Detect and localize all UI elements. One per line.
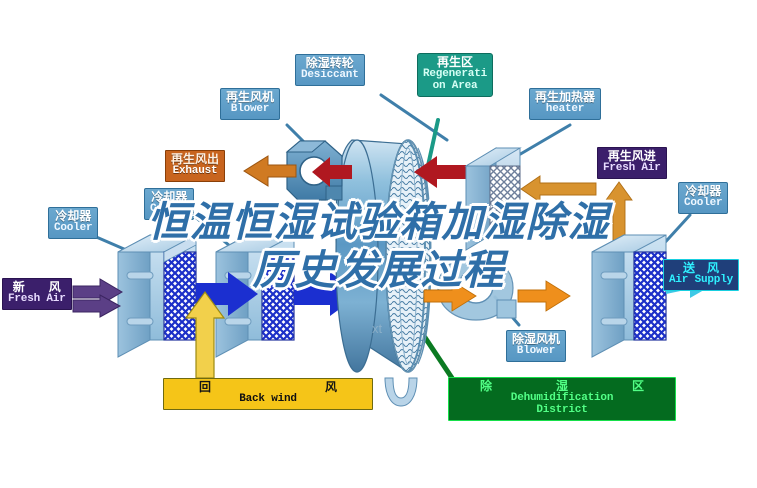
label-regen-blower-en: Blower xyxy=(226,104,274,116)
label-back-wind-en: Back wind xyxy=(169,394,367,406)
label-desiccant-en: Desiccant xyxy=(301,70,359,82)
label-fresh-air-regen: 再生风进 Fresh Air xyxy=(597,147,667,179)
label-cooler-mid: 冷却器 Cooler xyxy=(144,188,194,220)
label-fresh-air-regen-en: Fresh Air xyxy=(603,163,661,175)
cooler-unit-right xyxy=(592,235,666,357)
label-cooler-left-cn: 冷却器 xyxy=(54,210,92,223)
label-exhaust: 再生风出 Exhaust xyxy=(165,150,225,182)
label-regen-heater-cn: 再生加热器 xyxy=(535,91,595,104)
diagram-canvas: xt 除湿转轮 Desiccant 再生风机 Blower 再生区 Regene… xyxy=(0,0,757,488)
regeneration-heater xyxy=(466,148,520,250)
label-air-supply: 送 风 Air Supply xyxy=(663,259,739,291)
label-desiccant: 除湿转轮 Desiccant xyxy=(295,54,365,86)
label-desiccant-cn: 除湿转轮 xyxy=(301,57,359,70)
label-regen-blower: 再生风机 Blower xyxy=(220,88,280,120)
desiccant-rotor xyxy=(336,140,431,406)
label-exhaust-cn: 再生风出 xyxy=(171,153,219,166)
label-back-wind-cn: 回 风 xyxy=(169,381,367,394)
label-cooler-left-en: Cooler xyxy=(54,223,92,235)
regen-supply-arrows xyxy=(521,176,632,240)
label-fresh-air-in-cn: 新 风 xyxy=(8,281,66,294)
label-cooler-left: 冷却器 Cooler xyxy=(48,207,98,239)
label-regen-heater-en: heater xyxy=(535,104,595,116)
label-fresh-air-regen-cn: 再生风进 xyxy=(603,150,661,163)
label-air-supply-en: Air Supply xyxy=(669,275,733,287)
label-regeneration-area-cn: 再生区 xyxy=(423,56,487,69)
label-cooler-right-cn: 冷却器 xyxy=(684,185,722,198)
label-dehum-blower-cn: 除湿风机 xyxy=(512,333,560,346)
label-cooler-right-en: Cooler xyxy=(684,198,722,210)
dehumidification-blower xyxy=(438,256,516,320)
label-cooler-mid-cn: 冷却器 xyxy=(150,191,188,204)
label-fresh-air-in: 新 风 Fresh Air xyxy=(2,278,72,310)
fresh-air-arrows xyxy=(73,279,122,317)
label-cooler-right: 冷却器 Cooler xyxy=(678,182,728,214)
label-dehum-blower: 除湿风机 Blower xyxy=(506,330,566,362)
label-dehumidification-district-en2: District xyxy=(454,405,670,417)
label-back-wind: 回 风 Back wind xyxy=(163,378,373,410)
label-exhaust-en: Exhaust xyxy=(171,166,219,178)
label-fresh-air-in-en: Fresh Air xyxy=(8,294,66,306)
label-cooler-mid-en: Cooler xyxy=(150,204,188,216)
label-dehumidification-district-cn: 除 湿 区 xyxy=(454,380,670,393)
label-dehum-blower-en: Blower xyxy=(512,346,560,358)
label-air-supply-cn: 送 风 xyxy=(669,262,733,275)
label-regeneration-area-en2: on Area xyxy=(423,81,487,93)
label-regen-heater: 再生加热器 heater xyxy=(529,88,601,120)
label-regeneration-area: 再生区 Regenerati on Area xyxy=(417,53,493,97)
cooler-unit-left xyxy=(118,235,196,357)
label-dehumidification-district: 除 湿 区 Dehumidification District xyxy=(448,377,676,421)
watermark-text: xt xyxy=(372,321,383,336)
label-regen-blower-cn: 再生风机 xyxy=(226,91,274,104)
